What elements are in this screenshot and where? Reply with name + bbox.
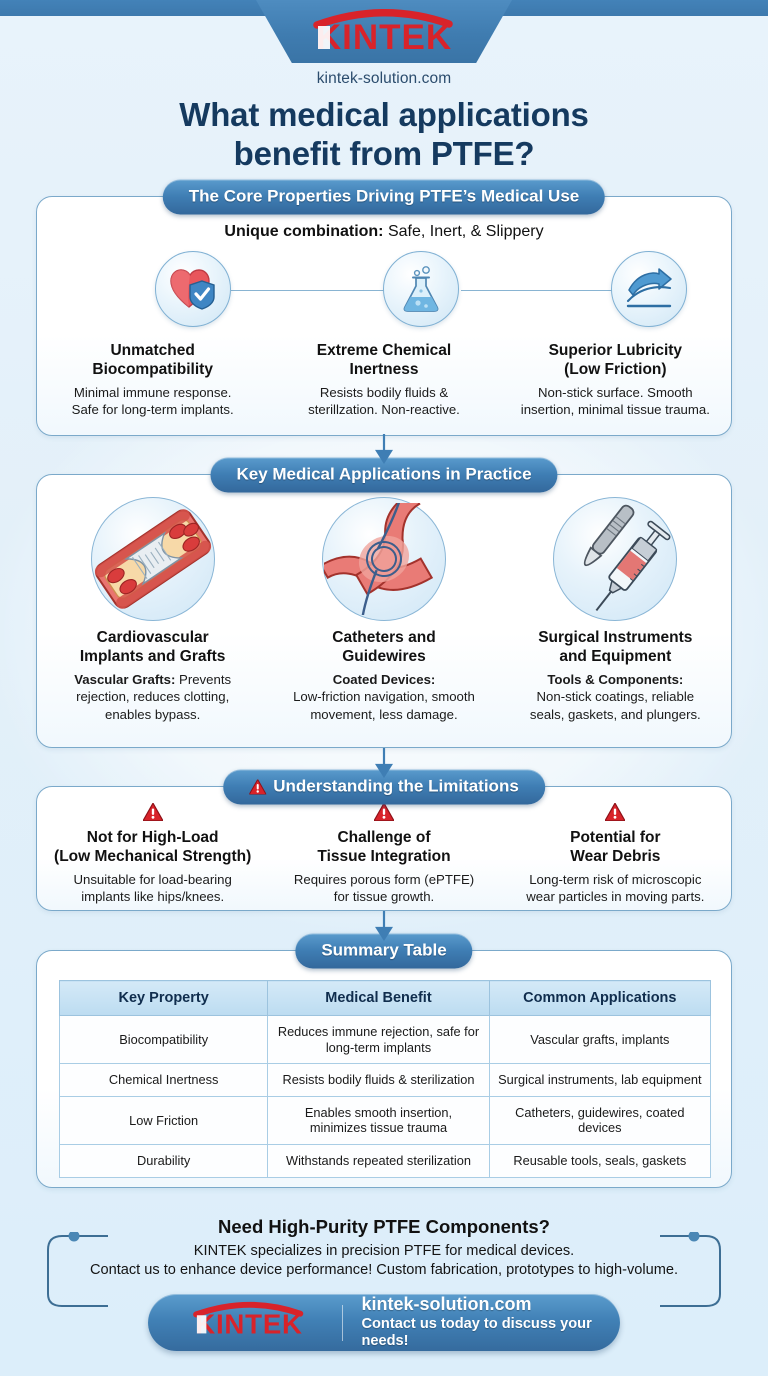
headline-line-2: benefit from PTFE? (0, 135, 768, 174)
table-cell: Enables smooth insertion, minimizes tiss… (268, 1096, 489, 1144)
blood-vessel-graft-illustration (91, 497, 215, 621)
body-line-3: seals, gaskets, and plungers. (510, 706, 721, 723)
body-line-2: insertion, minimal tissue trauma. (510, 401, 721, 418)
title-line-1: Challenge of (278, 829, 489, 848)
section1-icon-row (37, 251, 731, 329)
section1-pill-title: The Core Properties Driving PTFE’s Medic… (163, 180, 605, 215)
section2-text-columns: Cardiovascular Implants and Grafts Vascu… (37, 629, 731, 723)
section1-subhead: Unique combination: Safe, Inert, & Slipp… (37, 223, 731, 241)
section3-warning-icons-row (37, 803, 731, 826)
table-header-cell: Key Property (60, 981, 268, 1016)
table-cell: Vascular grafts, implants (489, 1016, 710, 1064)
section3-pill-label: Understanding the Limitations (273, 777, 519, 797)
table-cell: Resists bodily fluids & sterilization (268, 1064, 489, 1097)
summary-table: Key Property Medical Benefit Common Appl… (59, 980, 711, 1178)
body-line-2: Non-stick coatings, reliable (510, 688, 721, 705)
warn-icon-cell-2 (500, 803, 731, 826)
flask-icon (383, 251, 459, 327)
title-line-1: Not for High-Load (47, 829, 258, 848)
section1-subhead-rest: Safe, Inert, & Slippery (384, 223, 544, 240)
illus-cell-1 (268, 497, 499, 621)
body-bold: Tools & Components: (547, 672, 683, 687)
warning-triangle-icon (374, 803, 394, 821)
section2-item-0-title: Cardiovascular Implants and Grafts (47, 629, 258, 666)
cta-tagline: Contact us today to discuss your needs! (361, 1316, 620, 1351)
body-line-3: movement, less damage. (278, 706, 489, 723)
footer-cta-section: Need High-Purity PTFE Components? KINTEK… (0, 1196, 768, 1376)
body-line-1: Non-stick surface. Smooth (510, 384, 721, 401)
section3-item-2-title: Potential for Wear Debris (510, 829, 721, 866)
body-line-1: Unsuitable for load-bearing (47, 871, 258, 888)
title-line-1: Surgical Instruments (510, 629, 721, 648)
section3-item-2-body: Long-term risk of microscopic wear parti… (510, 871, 721, 905)
section1-item-2: Superior Lubricity (Low Friction) Non-st… (500, 342, 731, 419)
section1-item-0: Unmatched Biocompatibility Minimal immun… (37, 342, 268, 419)
body-line-2: Safe for long-term implants. (47, 401, 258, 418)
section3-item-0-body: Unsuitable for load-bearing implants lik… (47, 871, 258, 905)
flow-arrow-1 (375, 434, 393, 464)
illus-cell-0 (37, 497, 268, 621)
body-line-1: Resists bodily fluids & (278, 384, 489, 401)
section3-item-1: Challenge of Tissue Integration Requires… (268, 829, 499, 906)
table-cell: Catheters, guidewires, coated devices (489, 1096, 710, 1144)
body-line-1: Minimal immune response. (47, 384, 258, 401)
section3-text-columns: Not for High-Load (Low Mechanical Streng… (37, 829, 731, 906)
section3-item-1-body: Requires porous form (ePTFE) for tissue … (278, 871, 489, 905)
section1-item-2-title: Superior Lubricity (Low Friction) (510, 342, 721, 379)
body-line-2: for tissue growth. (278, 888, 489, 905)
cta-heading: Need High-Purity PTFE Components? (0, 1216, 768, 1238)
section2-illustration-row (37, 497, 731, 621)
section1-text-columns: Unmatched Biocompatibility Minimal immun… (37, 342, 731, 419)
section-limitations: Understanding the Limitations (36, 786, 732, 911)
section3-item-0: Not for High-Load (Low Mechanical Streng… (37, 829, 268, 906)
title-line-1: Potential for (510, 829, 721, 848)
section1-item-1: Extreme Chemical Inertness Resists bodil… (268, 342, 499, 419)
flow-arrow-2 (375, 748, 393, 778)
title-line-2: Wear Debris (510, 848, 721, 867)
table-cell: Surgical instruments, lab equipment (489, 1064, 710, 1097)
title-line-1: Extreme Chemical (278, 342, 489, 361)
body-line-2: Low-friction navigation, smooth (278, 688, 489, 705)
warn-icon-cell-1 (268, 803, 499, 826)
section4-pill-label: Summary Table (321, 941, 446, 961)
title-line-2: Biocompatibility (47, 361, 258, 380)
page-title: What medical applications benefit from P… (0, 96, 768, 173)
catheter-guidewire-illustration (322, 497, 446, 621)
table-row: Biocompatibility Reduces immune rejectio… (60, 1016, 711, 1064)
section1-subhead-bold: Unique combination: (224, 223, 383, 240)
warning-triangle-icon (605, 803, 625, 821)
cta-url[interactable]: kintek-solution.com (361, 1294, 620, 1316)
section3-item-2: Potential for Wear Debris Long-term risk… (500, 829, 731, 906)
title-line-2: Tissue Integration (278, 848, 489, 867)
table-cell: Reusable tools, seals, gaskets (489, 1145, 710, 1178)
section1-item-1-title: Extreme Chemical Inertness (278, 342, 489, 379)
section2-item-0-body: Vascular Grafts: Prevents rejection, red… (47, 671, 258, 722)
body-line-3: enables bypass. (47, 706, 258, 723)
title-line-2: and Equipment (510, 648, 721, 667)
table-cell: Biocompatibility (60, 1016, 268, 1064)
headline-line-1: What medical applications (0, 96, 768, 135)
warning-triangle-icon (143, 803, 163, 821)
body-line-2: wear particles in moving parts. (510, 888, 721, 905)
section3-item-0-title: Not for High-Load (Low Mechanical Streng… (47, 829, 258, 866)
section2-item-2-title: Surgical Instruments and Equipment (510, 629, 721, 666)
table-header-cell: Common Applications (489, 981, 710, 1016)
svg-text:KINTEK: KINTEK (195, 1308, 303, 1339)
section-core-properties: The Core Properties Driving PTFE’s Medic… (36, 196, 732, 436)
table-header-cell: Medical Benefit (268, 981, 489, 1016)
section2-item-1-body: Coated Devices: Low-friction navigation,… (278, 671, 489, 722)
site-url: kintek-solution.com (0, 70, 768, 88)
section-key-applications: Key Medical Applications in Practice (36, 474, 732, 748)
section-summary-table: Summary Table Key Property Medical Benef… (36, 950, 732, 1188)
title-line-2: (Low Mechanical Strength) (47, 848, 258, 867)
body-line-1: Requires porous form (ePTFE) (278, 871, 489, 888)
section1-item-2-body: Non-stick surface. Smooth insertion, min… (510, 384, 721, 418)
body-line-1: Prevents (175, 672, 231, 687)
slide-arrow-icon (611, 251, 687, 327)
title-line-1: Unmatched (47, 342, 258, 361)
connector-line-1 (231, 290, 385, 291)
footer-kintek-logo: KINTEK (174, 1300, 324, 1345)
section2-item-1: Catheters and Guidewires Coated Devices:… (268, 629, 499, 723)
section1-item-0-title: Unmatched Biocompatibility (47, 342, 258, 379)
cta-contact-bar[interactable]: KINTEK kintek-solution.com Contact us to… (148, 1294, 620, 1351)
warning-triangle-icon (249, 779, 266, 794)
section1-item-1-body: Resists bodily fluids & sterillzation. N… (278, 384, 489, 418)
section2-item-1-title: Catheters and Guidewires (278, 629, 489, 666)
table-row: Low Friction Enables smooth insertion, m… (60, 1096, 711, 1144)
table-row: Durability Withstands repeated steriliza… (60, 1145, 711, 1178)
svg-text:KINTEK: KINTEK (316, 18, 452, 56)
body-bold: Coated Devices: (333, 672, 436, 687)
connector-line-2 (461, 290, 615, 291)
title-line-1: Superior Lubricity (510, 342, 721, 361)
scalpel-syringe-illustration (553, 497, 677, 621)
heart-shield-icon (155, 251, 231, 327)
body-line-1: Long-term risk of microscopic (510, 871, 721, 888)
section2-item-2: Surgical Instruments and Equipment Tools… (500, 629, 731, 723)
section1-pill-label: The Core Properties Driving PTFE’s Medic… (189, 187, 579, 207)
table-cell: Withstands repeated sterilization (268, 1145, 489, 1178)
title-line-2: (Low Friction) (510, 361, 721, 380)
body-bold: Vascular Grafts: (74, 672, 175, 687)
section2-pill-label: Key Medical Applications in Practice (236, 465, 531, 485)
cta-line-1: KINTEK specializes in precision PTFE for… (0, 1243, 768, 1259)
title-line-2: Guidewires (278, 648, 489, 667)
body-line-2: implants like hips/knees. (47, 888, 258, 905)
table-cell: Low Friction (60, 1096, 268, 1144)
table-cell: Durability (60, 1145, 268, 1178)
section1-item-0-body: Minimal immune response. Safe for long-t… (47, 384, 258, 418)
table-cell: Reduces immune rejection, safe for long-… (268, 1016, 489, 1064)
header-logo-tab: KINTEK (256, 0, 512, 63)
section2-item-0: Cardiovascular Implants and Grafts Vascu… (37, 629, 268, 723)
cta-line-2: Contact us to enhance device performance… (0, 1262, 768, 1278)
title-line-1: Catheters and (278, 629, 489, 648)
kintek-logo-mark: KINTEK (289, 8, 479, 56)
kintek-logo: KINTEK (256, 8, 512, 56)
body-line-2: rejection, reduces clotting, (47, 688, 258, 705)
title-line-2: Inertness (278, 361, 489, 380)
illus-cell-2 (500, 497, 731, 621)
cta-text-block: kintek-solution.com Contact us today to … (361, 1294, 620, 1351)
cta-divider (342, 1305, 343, 1341)
section2-item-2-body: Tools & Components: Non-stick coatings, … (510, 671, 721, 722)
body-line-2: sterillzation. Non-reactive. (278, 401, 489, 418)
flow-arrow-3 (375, 911, 393, 941)
warn-icon-cell-0 (37, 803, 268, 826)
table-header-row: Key Property Medical Benefit Common Appl… (60, 981, 711, 1016)
table-cell: Chemical Inertness (60, 1064, 268, 1097)
title-line-1: Cardiovascular (47, 629, 258, 648)
title-line-2: Implants and Grafts (47, 648, 258, 667)
section3-item-1-title: Challenge of Tissue Integration (278, 829, 489, 866)
table-row: Chemical Inertness Resists bodily fluids… (60, 1064, 711, 1097)
